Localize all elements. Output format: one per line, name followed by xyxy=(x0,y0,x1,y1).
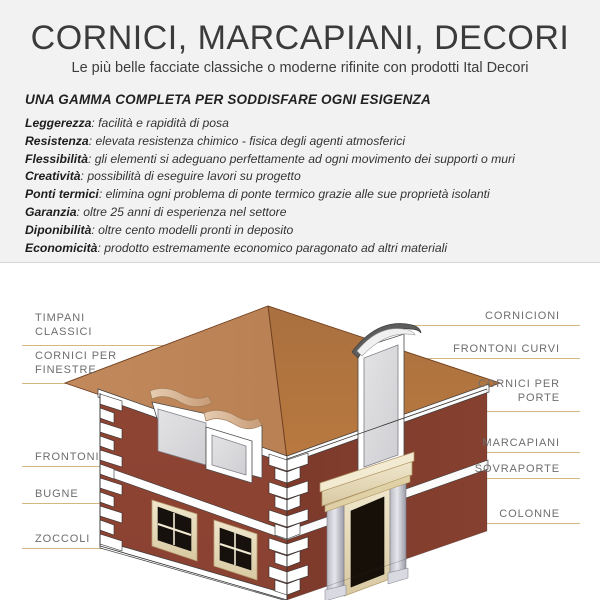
feature-row: Resistenza: elevata resistenza chimico -… xyxy=(25,133,585,151)
main-doorway xyxy=(344,487,390,596)
feature-description: : gli elementi si adeguano perfettamente… xyxy=(88,152,515,166)
label-timpani-classici: TIMPANI CLASSICI xyxy=(35,311,92,339)
label-cornicioni: CORNICIONI xyxy=(485,309,560,323)
feature-row: Economicità: prodotto estremamente econo… xyxy=(25,240,585,258)
feature-row: Garanzia: oltre 25 anni di esperienza ne… xyxy=(25,204,585,222)
feature-description: : elimina ogni problema di ponte termico… xyxy=(99,187,490,201)
label-line-1: BUGNE xyxy=(35,487,79,501)
label-line-1: CORNICIONI xyxy=(485,309,560,323)
label-frontoni: FRONTONI xyxy=(35,450,99,464)
label-line-2: PORTE xyxy=(478,391,560,405)
feature-description: : possibilità di eseguire lavori su prog… xyxy=(81,169,301,183)
label-line-1: FRONTONI xyxy=(35,450,99,464)
label-bugne: BUGNE xyxy=(35,487,79,501)
feature-term: Diponibilità xyxy=(25,223,91,237)
feature-term: Resistenza xyxy=(25,134,89,148)
building-diagram-panel: TIMPANI CLASSICI CORNICI PER FINESTRE FR… xyxy=(0,263,600,600)
label-zoccoli: ZOCCOLI xyxy=(35,532,90,546)
feature-term: Economicità xyxy=(25,241,97,255)
infographic-page: CORNICI, MARCAPIANI, DECORI Le più belle… xyxy=(0,0,600,600)
feature-term: Garanzia xyxy=(25,205,76,219)
intro-panel: CORNICI, MARCAPIANI, DECORI Le più belle… xyxy=(0,0,600,263)
feature-term: Ponti termici xyxy=(25,187,99,201)
feature-description: : facilità e rapidità di posa xyxy=(91,116,229,130)
label-cornici-per-porte: CORNICI PER PORTE xyxy=(478,377,560,405)
label-frontoni-curvi: FRONTONI CURVI xyxy=(453,342,560,356)
label-sovraporte: SOVRAPORTE xyxy=(475,462,560,476)
features-heading: UNA GAMMA COMPLETA PER SODDISFARE OGNI E… xyxy=(25,92,431,107)
feature-row: Ponti termici: elimina ogni problema di … xyxy=(25,186,585,204)
label-line-1: COLONNE xyxy=(499,507,560,521)
label-line-1: SOVRAPORTE xyxy=(475,462,560,476)
page-title: CORNICI, MARCAPIANI, DECORI xyxy=(0,16,600,60)
label-line-1: CORNICI PER xyxy=(35,349,117,363)
label-line-1: TIMPANI xyxy=(35,311,92,325)
feature-row: Creatività: possibilità di eseguire lavo… xyxy=(25,168,585,186)
upper-door-right xyxy=(358,334,404,475)
label-line-1: ZOCCOLI xyxy=(35,532,90,546)
feature-term: Flessibilità xyxy=(25,152,88,166)
label-line-2: CLASSICI xyxy=(35,325,92,339)
page-subtitle: Le più belle facciate classiche o modern… xyxy=(0,58,600,78)
feature-term: Creatività xyxy=(25,169,81,183)
feature-description: : prodotto estremamente economico parago… xyxy=(97,241,447,255)
label-line-1: FRONTONI CURVI xyxy=(453,342,560,356)
features-list: Leggerezza: facilità e rapidità di posaR… xyxy=(25,115,585,257)
feature-description: : oltre cento modelli pronti in deposito xyxy=(91,223,293,237)
label-line-1: MARCAPIANI xyxy=(483,436,560,450)
feature-description: : elevata resistenza chimico - fisica de… xyxy=(89,134,405,148)
feature-row: Leggerezza: facilità e rapidità di posa xyxy=(25,115,585,133)
label-cornici-per-finestre: CORNICI PER FINESTRE xyxy=(35,349,117,377)
label-marcapiani: MARCAPIANI xyxy=(483,436,560,450)
label-colonne: COLONNE xyxy=(499,507,560,521)
feature-row: Flessibilità: gli elementi si adeguano p… xyxy=(25,151,585,169)
feature-description: : oltre 25 anni di esperienza nel settor… xyxy=(76,205,286,219)
feature-term: Leggerezza xyxy=(25,116,91,130)
label-line-1: CORNICI PER xyxy=(478,377,560,391)
label-line-2: FINESTRE xyxy=(35,363,117,377)
feature-row: Diponibilità: oltre cento modelli pronti… xyxy=(25,222,585,240)
